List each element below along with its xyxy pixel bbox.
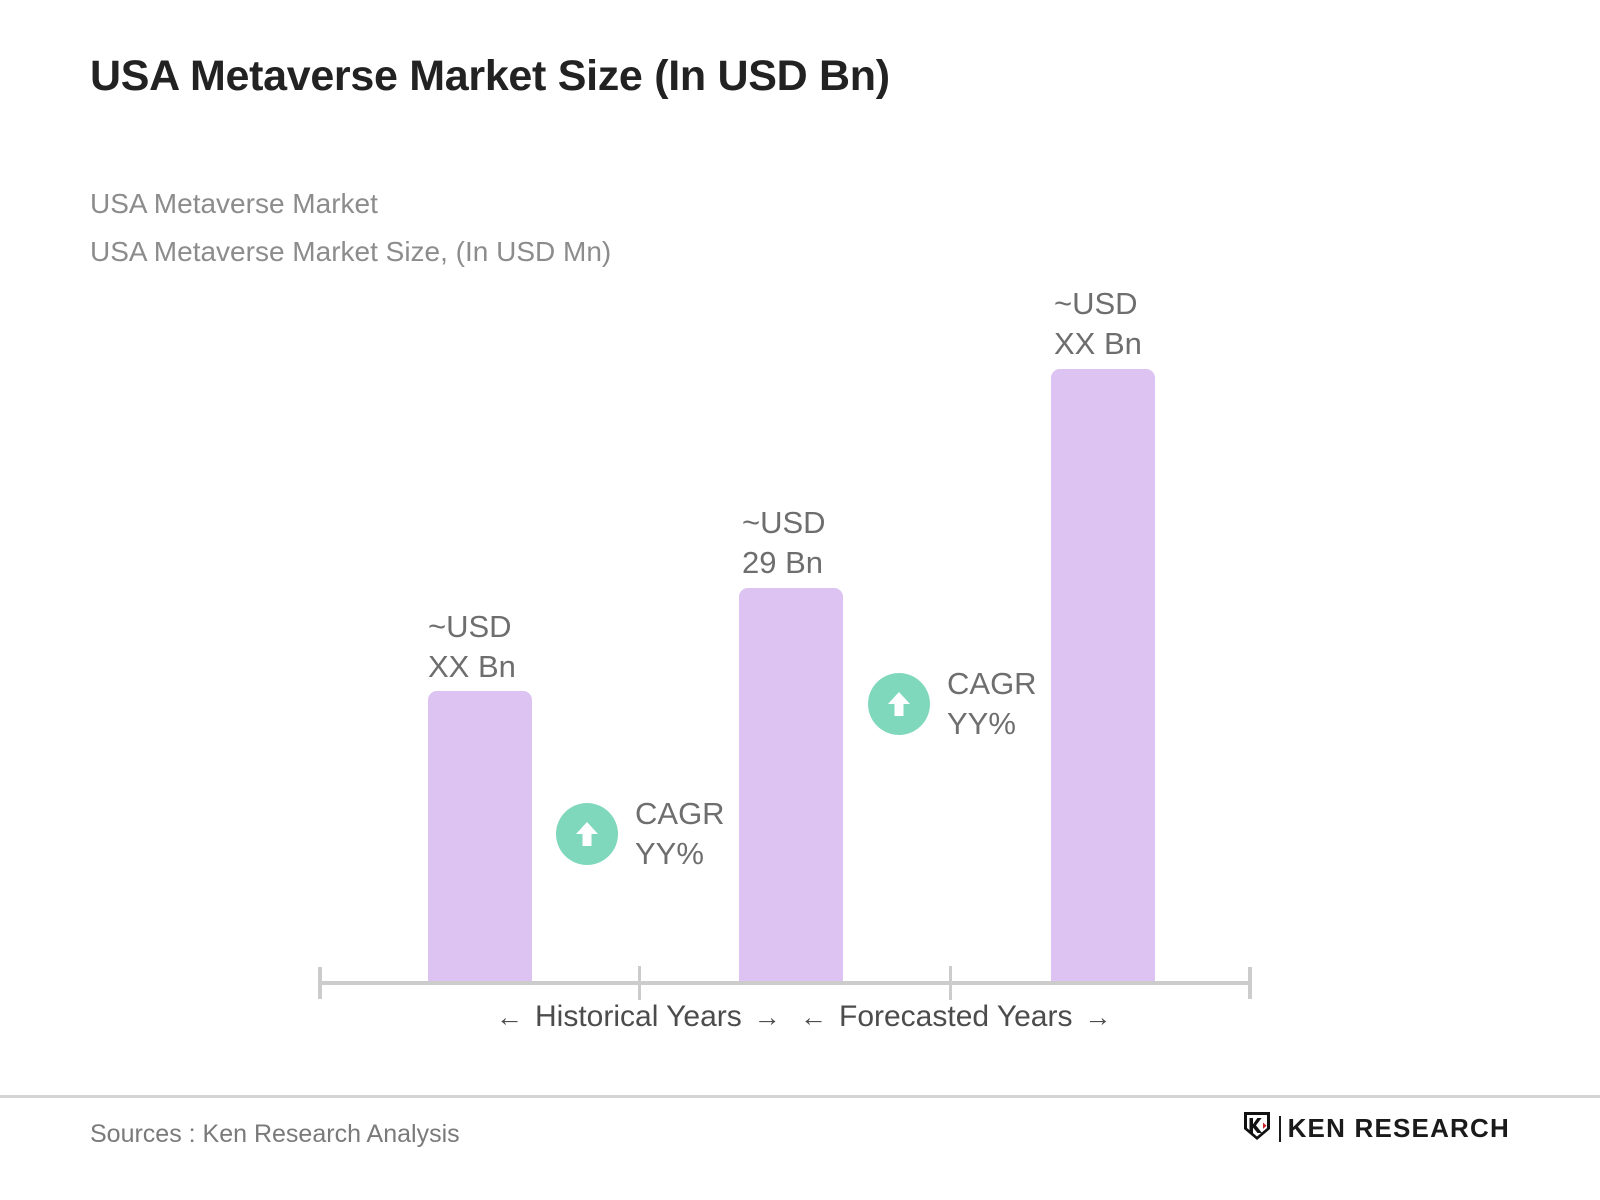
- cagr-annotation-historical: CAGR YY%: [556, 794, 725, 874]
- logo-divider: [1279, 1116, 1281, 1142]
- bar-label-forecast: ~USD XX Bn: [1054, 284, 1234, 364]
- cagr-text-forecast: CAGR YY%: [947, 664, 1037, 744]
- cagr-value-forecast: YY%: [947, 704, 1037, 744]
- ken-research-shield-icon: [1242, 1110, 1272, 1147]
- up-arrow-icon: [868, 673, 930, 735]
- bar-label-current-line2: 29 Bn: [742, 543, 922, 583]
- ken-research-logo: KEN RESEARCH: [1242, 1110, 1510, 1147]
- period-label-historical-text: Historical Years: [535, 1000, 742, 1034]
- cagr-value-historical: YY%: [635, 834, 725, 874]
- bar-historical: [428, 691, 532, 983]
- bar-label-historical-line2: XX Bn: [428, 647, 608, 687]
- period-label-forecast-text: Forecasted Years: [839, 1000, 1072, 1034]
- cagr-annotation-forecast: CAGR YY%: [868, 664, 1037, 744]
- up-arrow-icon: [556, 803, 618, 865]
- cagr-text-historical: CAGR YY%: [635, 794, 725, 874]
- x-axis-end-cap: [1248, 967, 1252, 999]
- cagr-label-historical: CAGR: [635, 794, 725, 834]
- period-label-historical: ← Historical Years →: [496, 1000, 781, 1034]
- x-axis-tick-1: [638, 966, 641, 1000]
- footer-source-text: Sources : Ken Research Analysis: [90, 1120, 460, 1149]
- x-axis-start-cap: [318, 967, 322, 999]
- logo-wordmark: KEN RESEARCH: [1288, 1113, 1510, 1144]
- bar-chart-plot: ~USD XX Bn ~USD 29 Bn ~USD XX Bn CAGR YY…: [0, 0, 1600, 1060]
- bar-label-current-line1: ~USD: [742, 503, 922, 543]
- arrow-left-icon: ←: [800, 1002, 827, 1033]
- bar-label-forecast-line1: ~USD: [1054, 284, 1234, 324]
- cagr-label-forecast: CAGR: [947, 664, 1037, 704]
- period-label-forecast: ← Forecasted Years →: [800, 1000, 1111, 1034]
- arrow-left-icon: ←: [496, 1002, 523, 1033]
- bar-label-historical: ~USD XX Bn: [428, 607, 608, 687]
- bar-current: [739, 588, 843, 983]
- bar-label-forecast-line2: XX Bn: [1054, 324, 1234, 364]
- arrow-right-icon: →: [754, 1002, 781, 1033]
- arrow-right-icon: →: [1084, 1002, 1111, 1033]
- x-axis-line: [318, 981, 1252, 985]
- footer-divider: [0, 1095, 1600, 1098]
- bar-forecast: [1051, 369, 1155, 983]
- bar-label-current: ~USD 29 Bn: [742, 503, 922, 583]
- bar-label-historical-line1: ~USD: [428, 607, 608, 647]
- x-axis-tick-2: [949, 966, 952, 1000]
